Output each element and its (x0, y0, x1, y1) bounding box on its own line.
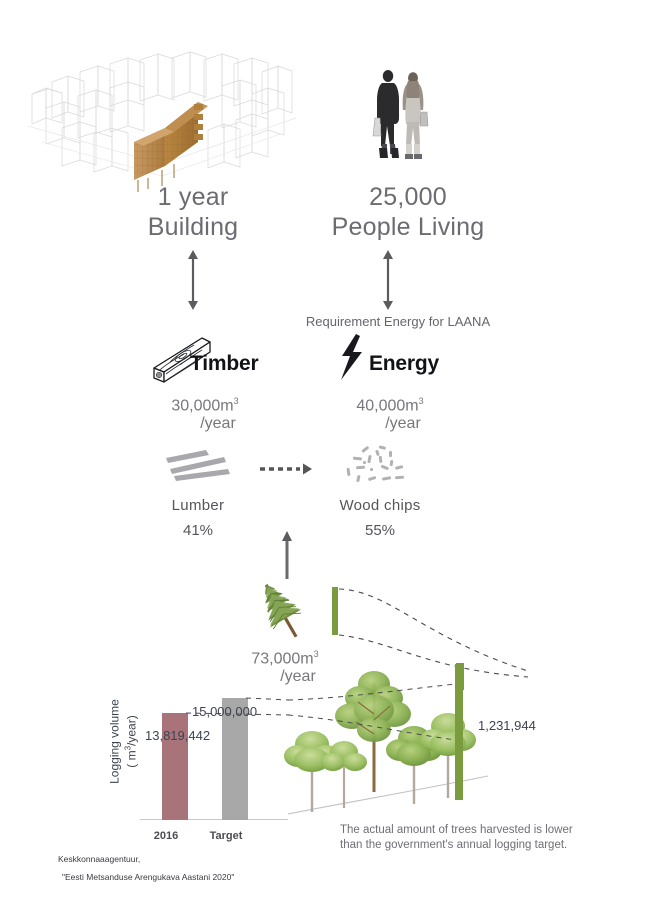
ylabel-line2-a: ( m (125, 750, 139, 767)
building-link-arrow-icon (186, 250, 200, 310)
tree-exponent: 3 (314, 649, 319, 659)
energy-exponent: 3 (419, 396, 424, 406)
source-line1: Keskkonnaaagentuur, (58, 855, 318, 864)
bar-target-value-label: 15,000,000 (192, 704, 257, 719)
wood-chips-icon (335, 444, 415, 492)
energy-per-year: /year (310, 415, 470, 433)
lumber-name: Lumber (138, 497, 258, 514)
timber-amount: 30,000m3 /year (125, 392, 285, 433)
ylabel-exponent: 3 (124, 746, 133, 750)
source-citation: Keskkonnaaagentuur, "Eesti Metsanduse Ar… (58, 846, 318, 891)
timber-label: Timber (190, 352, 258, 376)
people-headline-line2: People Living (300, 212, 516, 242)
people-link-arrow-icon (381, 250, 395, 310)
x-tick-target: Target (200, 830, 252, 842)
lumber-planks-icon (160, 448, 238, 488)
forest-caption: The actual amount of trees harvested is … (340, 823, 610, 853)
conifer-tree-icon (228, 572, 338, 652)
ylabel-line2-b: /year) (125, 715, 139, 746)
dashed-right-arrow-icon (258, 462, 316, 476)
two-people-walking-icon (368, 66, 438, 166)
woodchips-percent: 55% (315, 522, 445, 539)
building-headline: 1 year Building (90, 182, 296, 242)
forest-caption-line2: than the government's annual logging tar… (340, 838, 610, 853)
wireframe-city-block-icon (22, 46, 302, 186)
building-headline-line2: Building (90, 212, 296, 242)
lightning-bolt-icon (336, 334, 368, 382)
energy-amount-value: 40,000 (356, 397, 405, 414)
ylabel-line1: Logging volume (108, 699, 122, 784)
harvest-total-value: 1,231,944 (478, 718, 536, 733)
x-tick-2016: 2016 (143, 830, 189, 842)
timber-amount-value: 30,000 (171, 397, 220, 414)
timber-per-year: /year (125, 415, 285, 433)
building-headline-line1: 1 year (90, 182, 296, 212)
bar-2016-value-label: 13,819,442 (145, 728, 210, 743)
energy-unit: m (405, 397, 418, 414)
source-line2: "Eesti Metsanduse Arengukava Aastani 202… (62, 873, 318, 882)
energy-label: Energy (369, 352, 439, 376)
chart-y-axis-label: Logging volume ( m3/year) (108, 676, 138, 794)
infographic-canvas: 1 year Building 25,000 People Living Req… (0, 0, 662, 917)
timber-exponent: 3 (234, 396, 239, 406)
green-bar-small (332, 587, 338, 635)
woodchips-name: Wood chips (315, 497, 445, 514)
people-headline-line1: 25,000 (300, 182, 516, 212)
timber-unit: m (220, 397, 233, 414)
energy-amount: 40,000m3 /year (310, 392, 470, 433)
people-headline: 25,000 People Living (300, 182, 516, 242)
chart-leader-lines (288, 680, 468, 820)
logging-volume-bar-chart (140, 680, 290, 820)
forest-caption-line1: The actual amount of trees harvested is … (340, 823, 610, 838)
energy-requirement-note: Requirement Energy for LAANA (283, 314, 513, 329)
lumber-percent: 41% (138, 522, 258, 539)
